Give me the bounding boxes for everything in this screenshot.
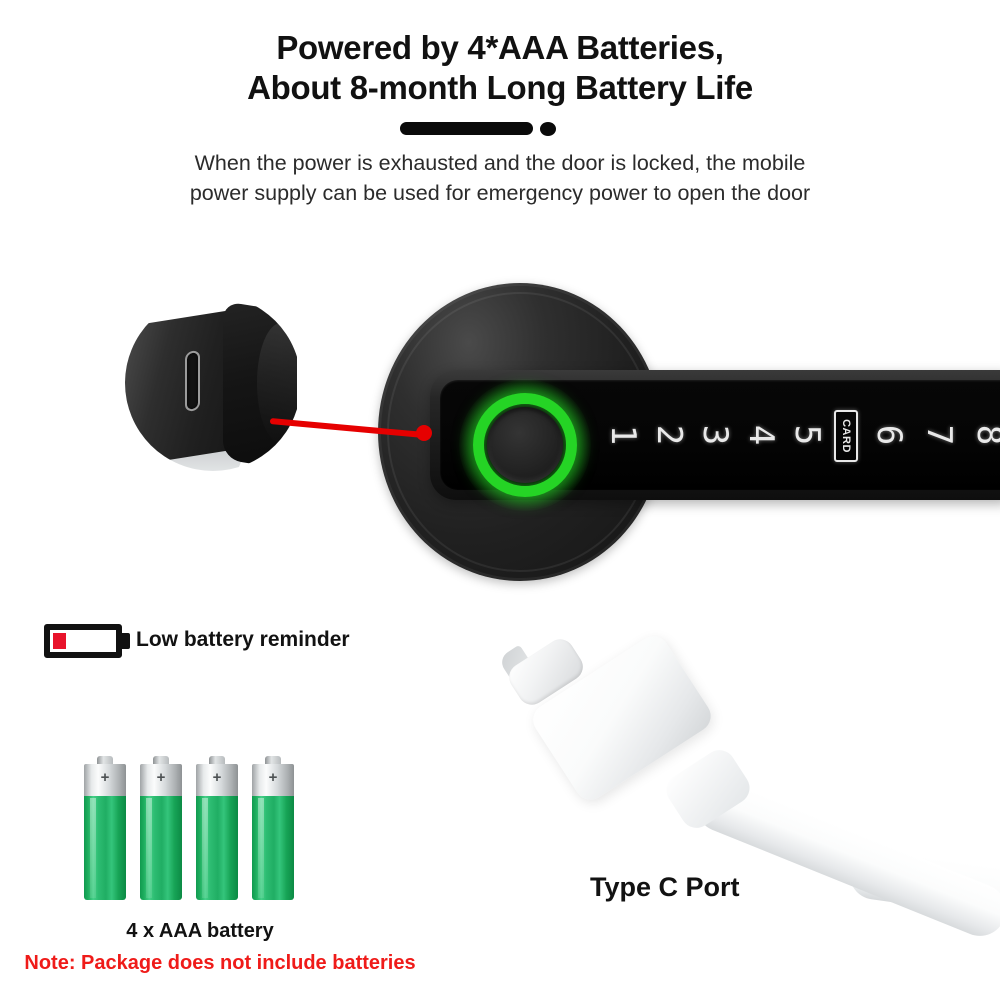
keypad-key-3[interactable]: 3: [692, 380, 738, 490]
page-title-line-1: Powered by 4*AAA Batteries,: [0, 28, 1000, 68]
aaa-battery-gloss: [258, 798, 264, 898]
smart-lock-illustration: 1 2 3 4 5 CARD 6 7 8: [0, 250, 1000, 610]
keypad-key-8-label: 8: [972, 425, 1000, 445]
type-c-cable-illustration: Type C Port: [470, 620, 1000, 980]
aaa-battery-gloss: [146, 798, 152, 898]
card-reader-label: CARD: [840, 419, 852, 453]
callout-line: [270, 418, 428, 438]
keypad-key-5-label: 5: [790, 425, 824, 445]
keypad-key-7-label: 7: [922, 425, 956, 445]
divider: [0, 120, 1000, 138]
callout-arrow-head: [416, 425, 432, 441]
keypad[interactable]: 1 2 3 4 5 CARD 6 7 8: [600, 380, 1000, 490]
aaa-battery-group: + + + +: [84, 752, 316, 902]
aaa-battery-polarity: +: [84, 770, 126, 785]
low-battery-fill: [53, 633, 66, 649]
aaa-battery-caption: 4 x AAA battery: [0, 920, 400, 943]
keypad-key-2-label: 2: [652, 425, 686, 445]
keypad-key-5[interactable]: 5: [784, 380, 830, 490]
keypad-key-6[interactable]: 6: [866, 380, 912, 490]
fingerprint-sensor[interactable]: [473, 393, 577, 497]
keypad-key-7[interactable]: 7: [916, 380, 962, 490]
keypad-key-3-label: 3: [698, 425, 732, 445]
type-c-port-label: Type C Port: [590, 872, 740, 903]
aaa-battery-polarity: +: [252, 770, 294, 785]
fingerprint-pad[interactable]: [487, 407, 563, 483]
aaa-battery-note: Note: Package does not include batteries: [0, 952, 440, 975]
keypad-key-8[interactable]: 8: [966, 380, 1000, 490]
subtitle: When the power is exhausted and the door…: [0, 148, 1000, 208]
divider-bar-icon: [400, 122, 533, 135]
page-title: Powered by 4*AAA Batteries, About 8-mont…: [0, 0, 1000, 108]
keypad-key-6-label: 6: [872, 425, 906, 445]
divider-dot-icon: [540, 122, 556, 136]
low-battery-icon: [44, 624, 122, 658]
aaa-battery: +: [140, 752, 182, 900]
subtitle-line-2: power supply can be used for emergency p…: [0, 178, 1000, 208]
low-battery-label: Low battery reminder: [136, 628, 350, 652]
aaa-battery: +: [252, 752, 294, 900]
aaa-battery-gloss: [202, 798, 208, 898]
keypad-key-4[interactable]: 4: [738, 380, 784, 490]
header-section: Powered by 4*AAA Batteries, About 8-mont…: [0, 0, 1000, 108]
card-reader-badge[interactable]: CARD: [834, 410, 858, 462]
aaa-battery: +: [196, 752, 238, 900]
aaa-battery: +: [84, 752, 126, 900]
aaa-battery-polarity: +: [196, 770, 238, 785]
usb-c-port-icon: [185, 350, 200, 412]
keypad-key-1-label: 1: [606, 425, 640, 445]
page-title-line-2: About 8-month Long Battery Life: [0, 68, 1000, 108]
low-battery-terminal: [122, 633, 130, 649]
red-arrow-callout-icon: [250, 400, 450, 450]
keypad-key-2[interactable]: 2: [646, 380, 692, 490]
aaa-battery-gloss: [90, 798, 96, 898]
keypad-key-4-label: 4: [744, 425, 778, 445]
aaa-battery-polarity: +: [140, 770, 182, 785]
subtitle-line-1: When the power is exhausted and the door…: [0, 148, 1000, 178]
keypad-key-1[interactable]: 1: [600, 380, 646, 490]
